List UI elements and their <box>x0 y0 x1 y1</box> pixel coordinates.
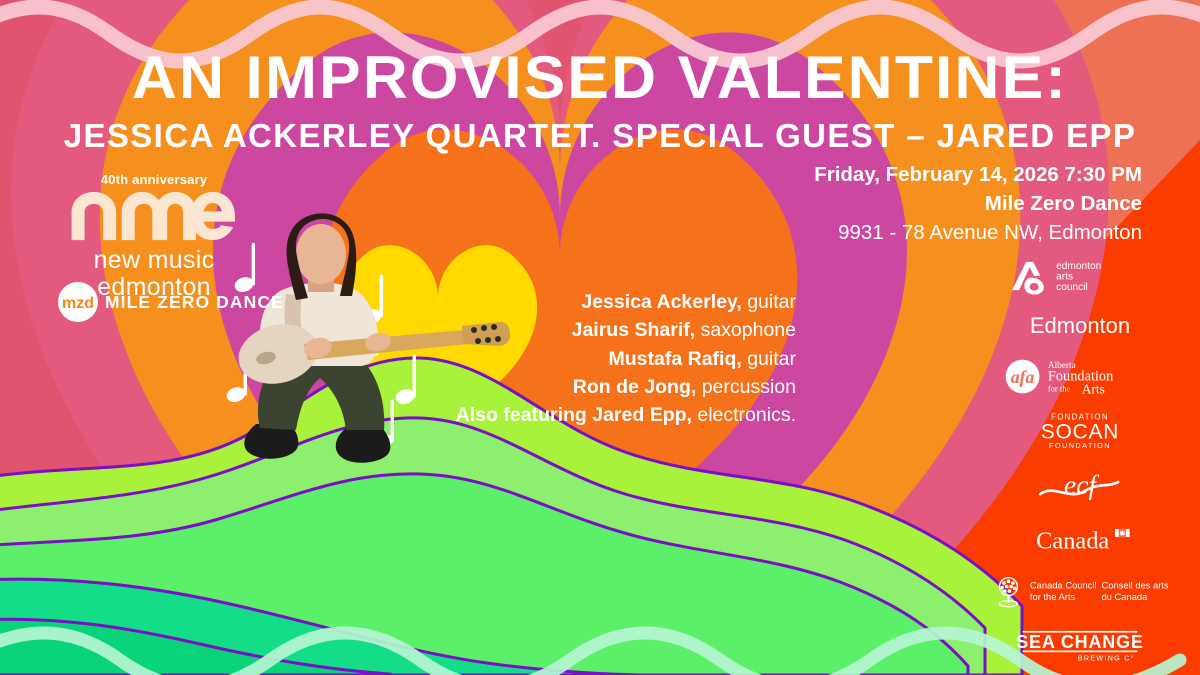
performer-role: saxophone <box>695 319 796 341</box>
performer-role: guitar <box>742 291 796 313</box>
sponsor-sea-change-brewing: SEA CHANGE BREWING C° <box>990 618 1170 670</box>
mile-zero-dance-logo: mzd MILE ZERO DANCE <box>58 282 284 322</box>
ccfa-en-line-2: for the Arts <box>1030 591 1076 602</box>
svg-text:afa: afa <box>1011 367 1035 387</box>
eac-line-2: arts <box>1056 272 1073 283</box>
canada-council-logo-icon: Canada Council for the Arts Conseil des … <box>992 575 1168 609</box>
ecf-wordmark-text: ecf <box>1064 469 1100 500</box>
ccfa-fr-line-2: du Canada <box>1101 591 1148 602</box>
eac-logo-icon: edmonton arts council <box>1005 256 1155 296</box>
socan-mid: SOCAN <box>1041 421 1119 444</box>
mzd-badge-icon: mzd <box>58 282 98 322</box>
event-details: Friday, February 14, 2026 7:30 PM Mile Z… <box>814 160 1142 247</box>
sea-change-logo-icon: SEA CHANGE BREWING C° <box>1014 626 1146 662</box>
sponsor-canada-council-for-the-arts: Canada Council for the Arts Conseil des … <box>990 566 1170 618</box>
tree-icon <box>999 578 1017 607</box>
performer-name: Ron de Jong, <box>573 376 697 398</box>
sponsor-edmonton-community-foundation: ecf <box>990 458 1170 512</box>
performer-role: guitar <box>742 348 796 370</box>
canada-wordmark-text: Canada <box>1036 527 1109 554</box>
performer-row: Ron de Jong, percussion <box>0 373 796 401</box>
socan-logo-icon: FONDATION SOCAN FOUNDATION <box>1015 409 1145 451</box>
sea-change-sub: BREWING C° <box>1078 653 1135 662</box>
performer-role: percussion <box>696 376 796 398</box>
ecf-wordmark-icon: ecf <box>1028 468 1132 503</box>
ccfa-fr-line-1: Conseil des arts <box>1101 579 1168 590</box>
performer-row: Also featuring Jared Epp, electronics. <box>0 401 796 429</box>
edmonton-wordmark-text: Edmonton <box>1030 313 1130 338</box>
canada-wordmark-icon: Canada <box>1019 524 1141 555</box>
anniversary-label: 40th anniversary <box>64 172 244 187</box>
performer-name: Mustafa Rafiq, <box>609 348 742 370</box>
poster-canvas: AN IMPROVISED VALENTINE: JESSICA ACKERLE… <box>0 0 1200 675</box>
ccfa-en-line-1: Canada Council <box>1030 579 1097 590</box>
performer-row: Mustafa Rafiq, guitar <box>0 345 796 373</box>
event-date: Friday, February 14, 2026 7:30 PM <box>814 160 1142 189</box>
sponsor-government-of-canada: Canada <box>990 512 1170 566</box>
sponsor-alberta-foundation-for-the-arts: afa Alberta Foundation for the Arts <box>990 350 1170 402</box>
mzd-wordmark: MILE ZERO DANCE <box>105 292 284 313</box>
afa-logo-icon: afa Alberta Foundation for the Arts <box>1004 357 1156 396</box>
performer-role: electronics. <box>692 404 796 426</box>
canada-flag-icon <box>1115 528 1130 536</box>
sponsor-logo-column: edmonton arts council Edmonton afa Alber… <box>990 250 1170 670</box>
nme-line-1: new music <box>64 247 244 274</box>
socan-bottom: FOUNDATION <box>1049 441 1111 450</box>
performer-name: Also featuring Jared Epp, <box>456 404 692 426</box>
performer-name: Jessica Ackerley, <box>581 291 741 313</box>
performer-name: Jairus Sharif, <box>572 319 696 341</box>
sponsor-city-of-edmonton: Edmonton <box>990 302 1170 350</box>
eac-line-1: edmonton <box>1056 261 1101 272</box>
mzd-badge-text: mzd <box>62 295 94 312</box>
event-address: 9931 - 78 Avenue NW, Edmonton <box>814 218 1142 247</box>
afa-line-3: for the <box>1048 383 1071 393</box>
afa-line-4: Arts <box>1082 381 1105 396</box>
sponsor-edmonton-arts-council: edmonton arts council <box>990 250 1170 302</box>
eac-line-3: council <box>1056 282 1088 293</box>
sponsor-socan-foundation: FONDATION SOCAN FOUNDATION <box>990 402 1170 458</box>
nme-monogram-icon <box>66 190 242 242</box>
sea-change-name: SEA CHANGE <box>1016 632 1144 652</box>
event-venue: Mile Zero Dance <box>814 189 1142 218</box>
edmonton-wordmark-icon: Edmonton <box>1014 312 1146 340</box>
